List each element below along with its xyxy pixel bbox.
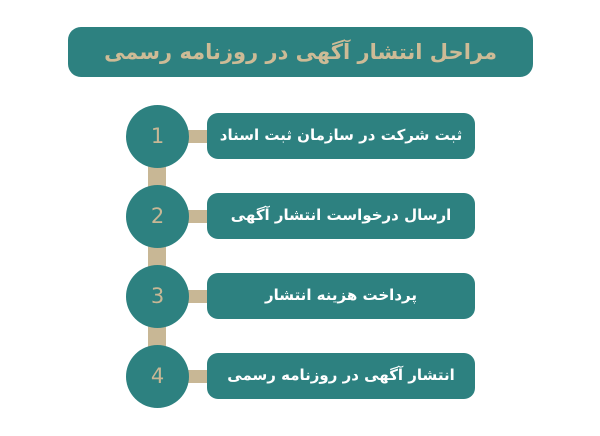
step-circle-1[interactable]: 1 <box>126 105 189 168</box>
step-row: 1 ثبت شرکت در سازمان ثبت اسناد <box>0 105 600 169</box>
step-row: 2 ارسال درخواست انتشار آگهی <box>0 185 600 249</box>
step-number-label: 3 <box>151 286 164 307</box>
steps-flow: 1 ثبت شرکت در سازمان ثبت اسناد 2 ارسال د… <box>0 0 600 436</box>
infographic-root: مراحل انتشار آگهی در روزنامه رسمی 1 ثبت … <box>0 0 600 436</box>
step-number-label: 2 <box>151 206 164 227</box>
step-bar-3[interactable]: پرداخت هزینه انتشار <box>207 273 475 319</box>
step-bar-2[interactable]: ارسال درخواست انتشار آگهی <box>207 193 475 239</box>
step-row: 4 انتشار آگهی در روزنامه رسمی <box>0 345 600 409</box>
step-label: ارسال درخواست انتشار آگهی <box>231 206 452 226</box>
step-circle-4[interactable]: 4 <box>126 345 189 408</box>
step-circle-3[interactable]: 3 <box>126 265 189 328</box>
step-label: انتشار آگهی در روزنامه رسمی <box>227 366 454 386</box>
step-circle-2[interactable]: 2 <box>126 185 189 248</box>
step-bar-1[interactable]: ثبت شرکت در سازمان ثبت اسناد <box>207 113 475 159</box>
step-row: 3 پرداخت هزینه انتشار <box>0 265 600 329</box>
step-number-label: 1 <box>151 126 164 147</box>
step-number-label: 4 <box>151 366 164 387</box>
step-label: ثبت شرکت در سازمان ثبت اسناد <box>220 126 462 146</box>
step-bar-4[interactable]: انتشار آگهی در روزنامه رسمی <box>207 353 475 399</box>
step-label: پرداخت هزینه انتشار <box>265 286 417 306</box>
